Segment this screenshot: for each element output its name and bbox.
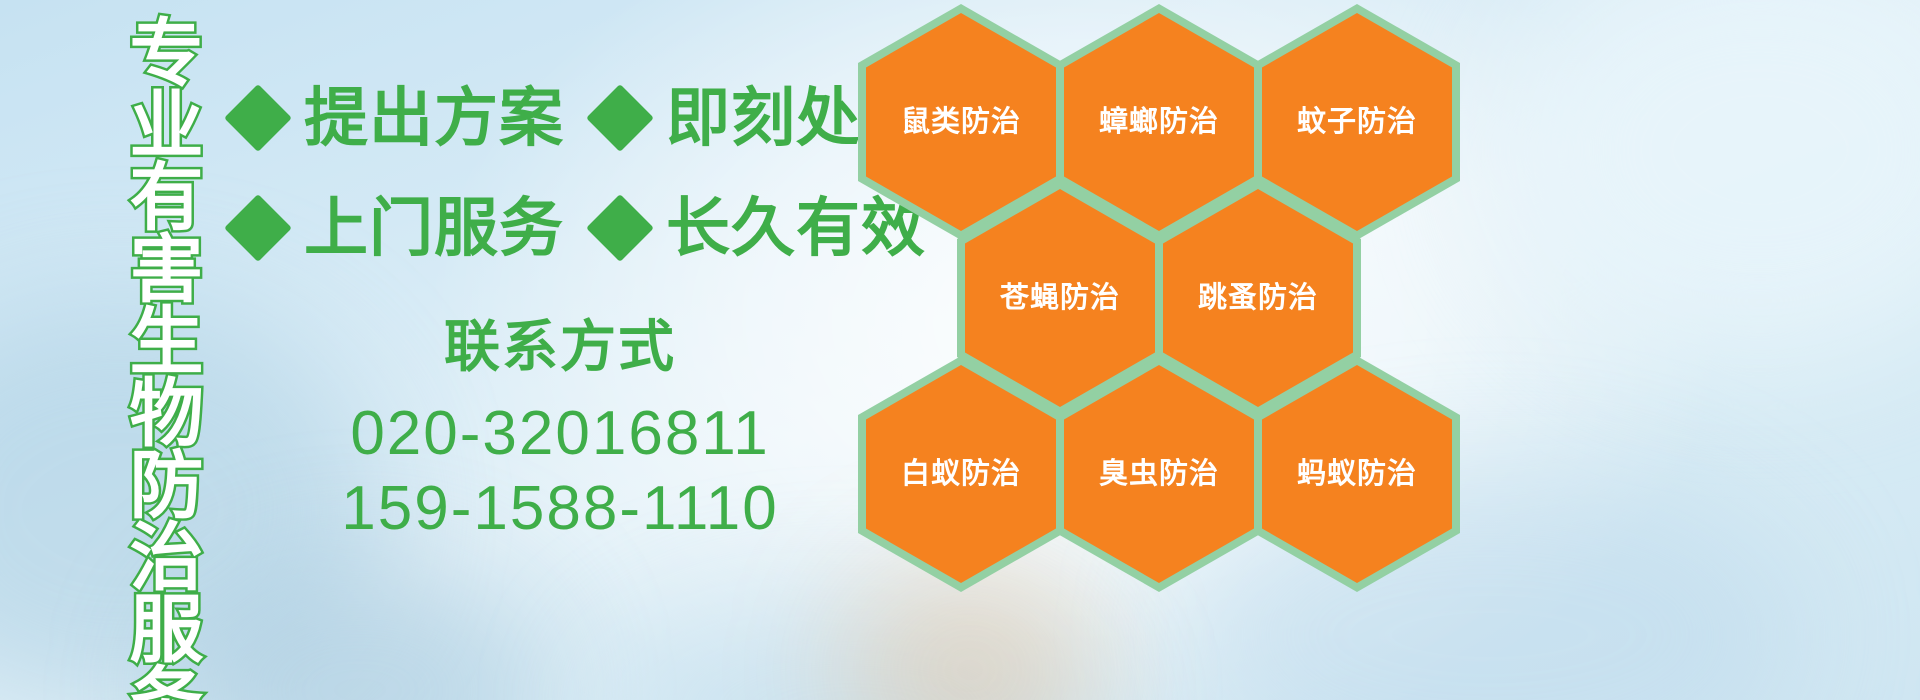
service-label: 白蚁防治	[901, 460, 1021, 489]
vertical-headline: 专业有害生物防治服务	[104, 14, 196, 700]
feature-item: 提出方案	[234, 86, 564, 150]
diamond-bullet-icon	[224, 194, 292, 262]
diamond-bullet-icon	[586, 84, 654, 152]
service-label: 臭虫防治	[1099, 460, 1219, 489]
service-label: 苍蝇防治	[1000, 284, 1120, 313]
phone-mobile[interactable]: 159-1588-1110	[300, 471, 820, 547]
service-label: 蚊子防治	[1297, 108, 1417, 137]
contact-heading: 联系方式	[300, 316, 820, 378]
service-label: 跳蚤防治	[1198, 284, 1318, 313]
background-blob	[1500, 0, 1920, 360]
feature-label: 上门服务	[304, 196, 564, 260]
service-label: 蟑螂防治	[1099, 108, 1219, 137]
diamond-bullet-icon	[586, 194, 654, 262]
feature-row-1: 提出方案 即刻处理	[234, 86, 926, 150]
service-label: 鼠类防治	[901, 108, 1021, 137]
background-blob	[600, 600, 1100, 700]
service-label: 蚂蚁防治	[1297, 460, 1417, 489]
background-blob	[170, 560, 550, 700]
pest-control-banner: 专业有害生物防治服务 提出方案 即刻处理 上门服务 长久有效 联系方式 020-…	[0, 0, 1920, 700]
feature-item: 上门服务	[234, 196, 564, 260]
feature-label: 提出方案	[304, 86, 564, 150]
service-hex-grid: 鼠类防治 蟑螂防治 蚊子防治 苍蝇防治 跳蚤防治 白蚁防治 臭虫防治 蚂蚁防治	[858, 0, 1458, 560]
phone-landline[interactable]: 020-32016811	[300, 396, 820, 472]
diamond-bullet-icon	[224, 84, 292, 152]
contact-block: 联系方式 020-32016811 159-1588-1110	[300, 316, 820, 547]
feature-row-2: 上门服务 长久有效	[234, 196, 926, 260]
